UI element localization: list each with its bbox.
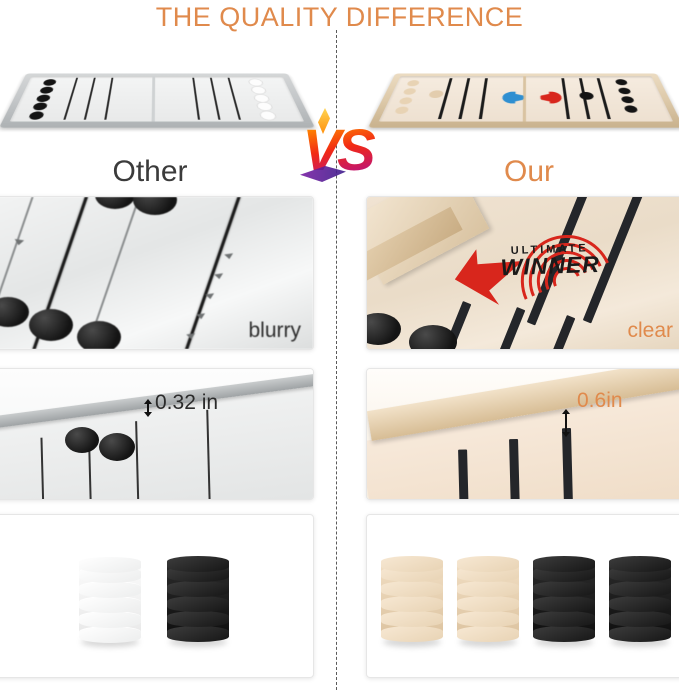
- puck-stack-black: [167, 550, 229, 642]
- our-puck-stacks: [367, 515, 679, 677]
- puck-stack-white: [79, 550, 141, 642]
- panel-other-thickness: 0.32 in: [0, 368, 314, 500]
- board-logo-right: [531, 88, 573, 107]
- winner-text: WINNER: [500, 254, 600, 279]
- puck-stack-wood-1: [381, 550, 443, 642]
- puck-stack-wood-2: [457, 550, 519, 642]
- panel-our-pucks: [366, 514, 679, 678]
- thickness-arrow-our: [565, 413, 567, 433]
- target-arcs-icon: [497, 213, 631, 347]
- measurement-our: 0.6in: [577, 389, 623, 413]
- other-puck-stacks: [0, 515, 313, 677]
- caption-blurry: blurry: [248, 319, 301, 343]
- label-other: Other: [0, 155, 300, 189]
- label-our: Our: [379, 155, 679, 189]
- page-title: THE QUALITY DIFFERENCE: [0, 2, 679, 33]
- other-print-photo: blurry: [0, 197, 313, 349]
- other-board-playfield: [10, 76, 305, 121]
- vs-badge: VS: [291, 112, 383, 190]
- our-board-playfield: [379, 76, 674, 121]
- thickness-arrow-other: [147, 403, 149, 413]
- puck-stack-black-1: [533, 550, 595, 642]
- caption-clear: clear: [627, 319, 673, 343]
- infographic-canvas: THE QUALITY DIFFERENCE: [0, 0, 679, 690]
- panel-our-print-quality: ULTIMATE WINNER clear: [366, 196, 679, 350]
- board-logo-left: [492, 88, 533, 107]
- puck-stack-black-2: [609, 550, 671, 642]
- measurement-other: 0.32 in: [155, 391, 218, 415]
- panel-other-print-quality: blurry: [0, 196, 314, 350]
- panel-other-pucks: [0, 514, 314, 678]
- panel-our-thickness: 0.6in: [366, 368, 679, 500]
- our-board-photo: [383, 50, 669, 146]
- other-board-photo: [14, 50, 300, 146]
- our-print-photo: ULTIMATE WINNER clear: [367, 197, 679, 349]
